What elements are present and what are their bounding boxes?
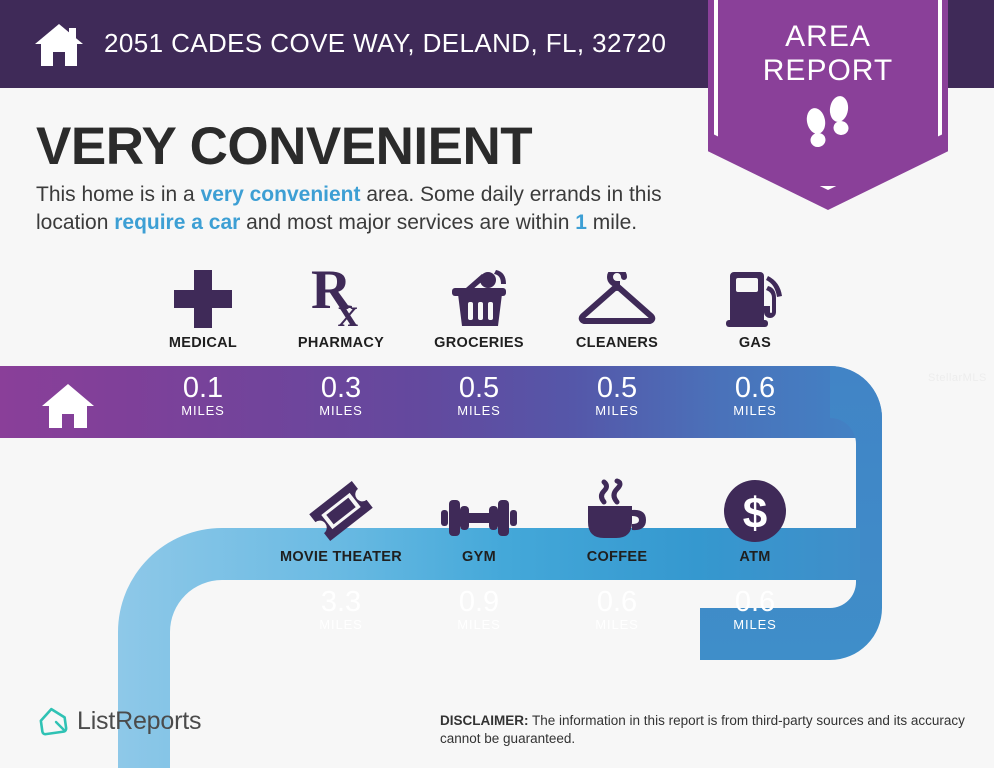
category-label: MEDICAL — [134, 335, 272, 351]
header-address: 2051 CADES COVE WAY, DELAND, FL, 32720 — [104, 28, 666, 59]
category-gas: GAS — [686, 258, 824, 363]
category-icons-row-2: MOVIE THEATER GYM — [272, 472, 852, 577]
area-report-badge-text: AREA REPORT — [708, 20, 948, 88]
summary-part-3: and most major services are within — [240, 211, 575, 234]
category-label: GROCERIES — [410, 335, 548, 351]
category-icons-row-1: MEDICAL R x PHARMACY — [134, 258, 854, 363]
footprints-icon — [708, 95, 948, 160]
distance-value: 0.9 — [410, 586, 548, 618]
distance-unit: MILES — [272, 617, 410, 632]
distance-unit: MILES — [134, 403, 272, 418]
distance-value: 3.3 — [272, 586, 410, 618]
distance-groceries: 0.5 MILES — [410, 372, 548, 418]
badge-line-area: AREA — [708, 20, 948, 54]
medical-cross-icon — [134, 258, 272, 330]
distance-unit: MILES — [686, 617, 824, 632]
distance-medical: 0.1 MILES — [134, 372, 272, 418]
listreports-logo-text: ListReports — [77, 707, 201, 736]
summary-highlight-miles: 1 — [575, 211, 587, 234]
pharmacy-rx-icon: R x — [272, 258, 410, 330]
distance-gas: 0.6 MILES — [686, 372, 824, 418]
distance-unit: MILES — [410, 617, 548, 632]
summary-highlight-convenient: very convenient — [201, 183, 361, 206]
listreports-logo[interactable]: ListReports — [38, 706, 201, 736]
summary-part-1: This home is in a — [36, 183, 201, 206]
distance-cleaners: 0.5 MILES — [548, 372, 686, 418]
distance-value: 0.5 — [548, 372, 686, 404]
category-movie-theater: MOVIE THEATER — [272, 472, 410, 577]
distance-movie-theater: 3.3 MILES — [272, 586, 410, 632]
svg-text:x: x — [338, 290, 358, 330]
distance-value: 0.6 — [686, 372, 824, 404]
category-pharmacy: R x PHARMACY — [272, 258, 410, 363]
distance-values-row-1: 0.1 MILES 0.3 MILES 0.5 MILES 0.5 MILES … — [134, 372, 854, 452]
summary-paragraph: This home is in a very convenient area. … — [36, 181, 716, 237]
house-icon — [33, 22, 85, 68]
distance-unit: MILES — [686, 403, 824, 418]
category-label: GYM — [410, 549, 548, 565]
category-coffee: COFFEE — [548, 472, 686, 577]
distance-value: 0.3 — [272, 372, 410, 404]
listreports-logo-icon — [38, 706, 68, 736]
house-icon — [40, 382, 96, 430]
category-gym: GYM — [410, 472, 548, 577]
category-label: MOVIE THEATER — [272, 549, 410, 565]
atm-dollar-icon: $ — [686, 472, 824, 544]
page-title: VERY CONVENIENT — [36, 117, 532, 177]
category-label: CLEANERS — [548, 335, 686, 351]
gas-pump-icon — [686, 258, 824, 330]
category-groceries: GROCERIES — [410, 258, 548, 363]
watermark: StellarMLS — [928, 372, 987, 384]
distance-atm: 0.6 MILES — [686, 586, 824, 632]
disclaimer: DISCLAIMER: The information in this repo… — [440, 712, 985, 748]
svg-text:$: $ — [743, 489, 767, 538]
disclaimer-label: DISCLAIMER: — [440, 713, 529, 728]
category-label: ATM — [686, 549, 824, 565]
category-atm: $ ATM — [686, 472, 824, 577]
distance-unit: MILES — [548, 403, 686, 418]
coffee-cup-icon — [548, 472, 686, 544]
cleaners-hanger-icon — [548, 258, 686, 330]
distance-value: 0.1 — [134, 372, 272, 404]
distance-value: 0.6 — [686, 586, 824, 618]
category-label: COFFEE — [548, 549, 686, 565]
category-label: GAS — [686, 335, 824, 351]
gym-dumbbell-icon — [410, 472, 548, 544]
summary-part-4: mile. — [587, 211, 637, 234]
summary-highlight-car: require a car — [114, 211, 240, 234]
category-cleaners: CLEANERS — [548, 258, 686, 363]
groceries-basket-icon — [410, 258, 548, 330]
distance-unit: MILES — [410, 403, 548, 418]
distance-value: 0.5 — [410, 372, 548, 404]
badge-line-report: REPORT — [708, 54, 948, 88]
distance-pharmacy: 0.3 MILES — [272, 372, 410, 418]
distance-gym: 0.9 MILES — [410, 586, 548, 632]
distance-unit: MILES — [272, 403, 410, 418]
distance-unit: MILES — [548, 617, 686, 632]
movie-ticket-icon — [272, 472, 410, 544]
area-report-page: 2051 CADES COVE WAY, DELAND, FL, 32720 A… — [0, 0, 994, 768]
distance-values-row-2: 3.3 MILES 0.9 MILES 0.6 MILES 0.6 MILES — [272, 586, 852, 666]
category-label: PHARMACY — [272, 335, 410, 351]
distance-value: 0.6 — [548, 586, 686, 618]
category-medical: MEDICAL — [134, 258, 272, 363]
distance-coffee: 0.6 MILES — [548, 586, 686, 632]
